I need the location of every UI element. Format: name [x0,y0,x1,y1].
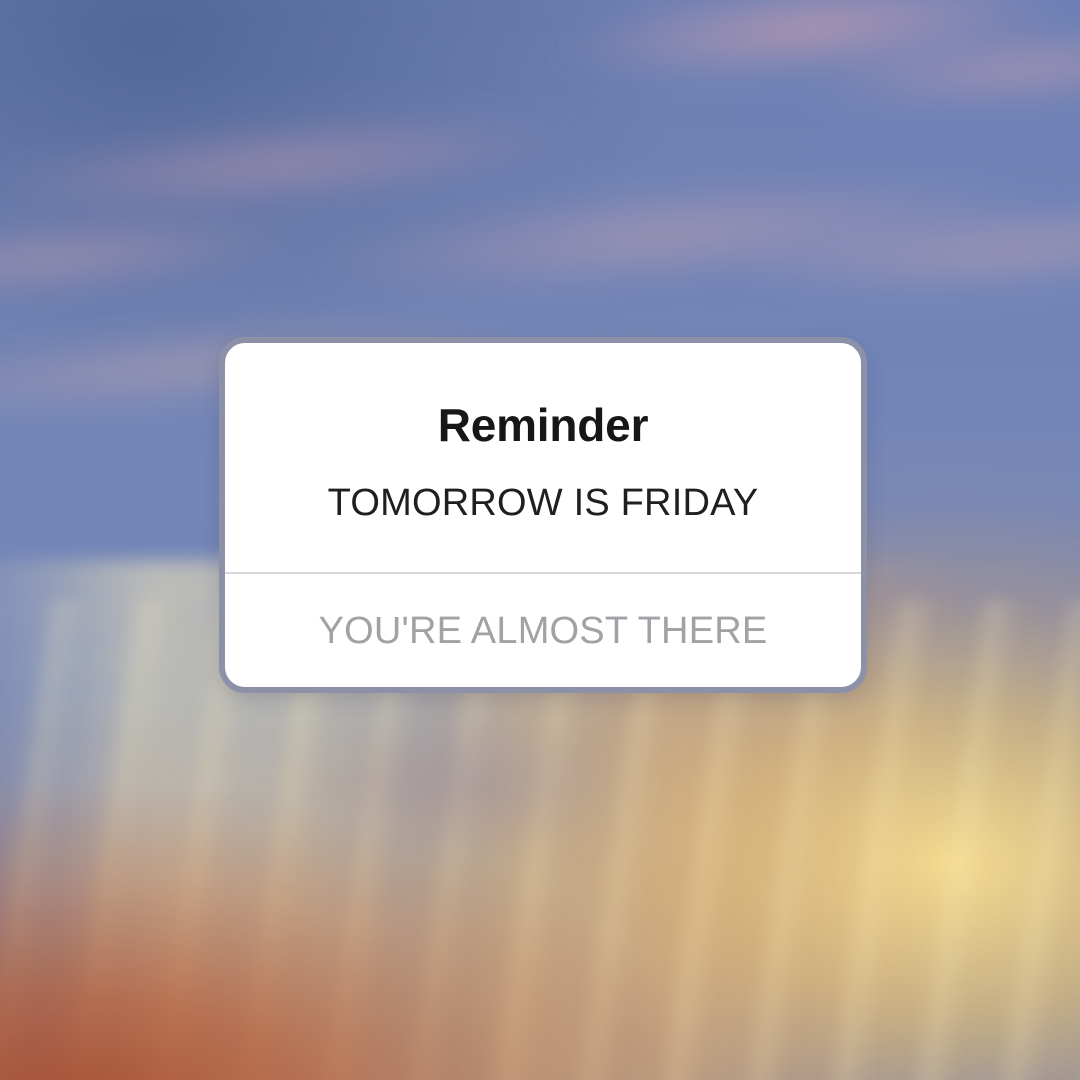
dialog-message: TOMORROW IS FRIDAY [328,448,759,522]
dialog-title: Reminder [438,402,649,448]
dialog-footer-text: YOU'RE ALMOST THERE [319,612,768,650]
dialog-footer[interactable]: YOU'RE ALMOST THERE [225,574,861,687]
reminder-dialog[interactable]: Reminder TOMORROW IS FRIDAY YOU'RE ALMOS… [219,337,867,693]
dialog-body: Reminder TOMORROW IS FRIDAY [225,343,861,572]
